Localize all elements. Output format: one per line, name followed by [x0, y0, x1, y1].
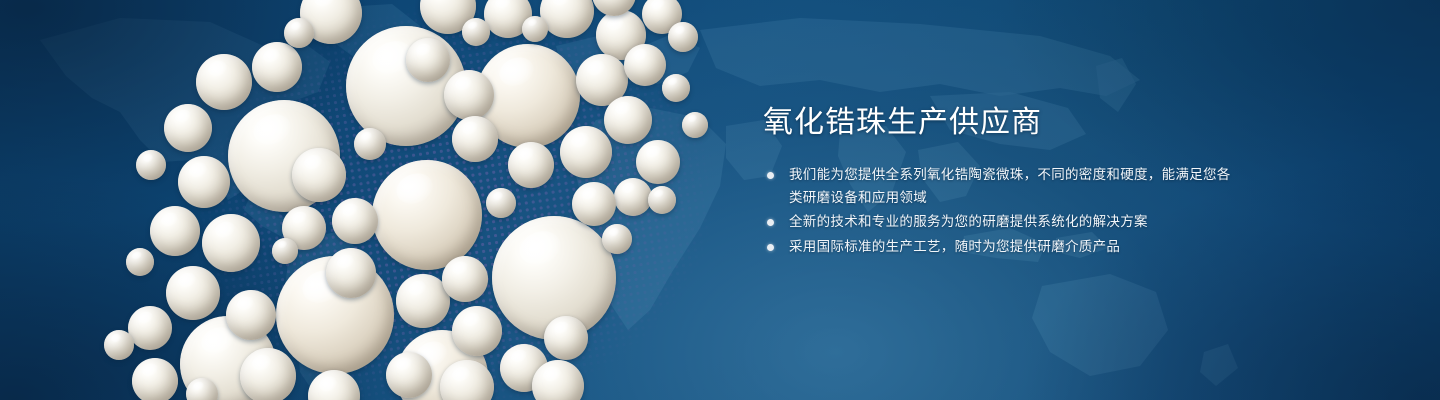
list-item: 全新的技术和专业的服务为您的研磨提供系统化的解决方案	[763, 211, 1233, 234]
bead	[540, 0, 594, 38]
bead	[272, 238, 298, 264]
bead	[452, 116, 498, 162]
list-item-label: 全新的技术和专业的服务为您的研磨提供系统化的解决方案	[789, 214, 1148, 229]
bead	[486, 188, 516, 218]
list-item: 采用国际标准的生产工艺，随时为您提供研磨介质产品	[763, 236, 1233, 259]
bead	[662, 74, 690, 102]
bead	[150, 206, 200, 256]
list-item: 我们能为您提供全系列氧化锆陶瓷微珠，不同的密度和硬度，能满足您各类研磨设备和应用…	[763, 164, 1233, 209]
bead	[442, 256, 488, 302]
hero-banner: 氧化锆珠生产供应商 我们能为您提供全系列氧化锆陶瓷微珠，不同的密度和硬度，能满足…	[0, 0, 1440, 400]
bead	[624, 44, 666, 86]
bead	[128, 306, 172, 350]
bead	[614, 178, 652, 216]
bead	[668, 22, 698, 52]
bead	[178, 156, 230, 208]
bead	[522, 16, 548, 42]
list-item-label: 我们能为您提供全系列氧化锆陶瓷微珠，不同的密度和硬度，能满足您各类研磨设备和应用…	[789, 167, 1231, 205]
bead	[386, 352, 432, 398]
bead	[332, 198, 378, 244]
bullet-dot-icon	[767, 244, 774, 251]
bead	[354, 128, 386, 160]
bead	[636, 140, 680, 184]
zirconia-beads-image	[0, 0, 760, 400]
bead	[462, 18, 490, 46]
bead	[326, 248, 376, 298]
bullet-dot-icon	[767, 219, 774, 226]
list-item-label: 采用国际标准的生产工艺，随时为您提供研磨介质产品	[789, 239, 1120, 254]
bullet-dot-icon	[767, 172, 774, 179]
bead	[202, 214, 260, 272]
bead	[372, 160, 482, 270]
feature-list: 我们能为您提供全系列氧化锆陶瓷微珠，不同的密度和硬度，能满足您各类研磨设备和应用…	[763, 164, 1233, 258]
bead	[252, 42, 302, 92]
bead	[508, 142, 554, 188]
banner-copy: 氧化锆珠生产供应商 我们能为您提供全系列氧化锆陶瓷微珠，不同的密度和硬度，能满足…	[763, 104, 1233, 260]
bead	[104, 330, 134, 360]
bead	[166, 266, 220, 320]
bead	[544, 316, 588, 360]
bead	[682, 112, 708, 138]
bead	[284, 18, 314, 48]
bead	[560, 126, 612, 178]
bead	[292, 148, 346, 202]
page-title: 氧化锆珠生产供应商	[763, 104, 1233, 142]
bead	[444, 70, 494, 120]
bead	[196, 54, 252, 110]
bead	[602, 224, 632, 254]
bead	[572, 182, 616, 226]
bead	[132, 358, 178, 400]
bead	[164, 104, 212, 152]
bead	[648, 186, 676, 214]
bead	[240, 348, 296, 400]
bead	[126, 248, 154, 276]
bead	[452, 306, 502, 356]
bead	[532, 360, 584, 400]
bead	[136, 150, 166, 180]
bead	[406, 38, 450, 82]
bead	[604, 96, 652, 144]
bead	[226, 290, 276, 340]
bead	[308, 370, 360, 400]
